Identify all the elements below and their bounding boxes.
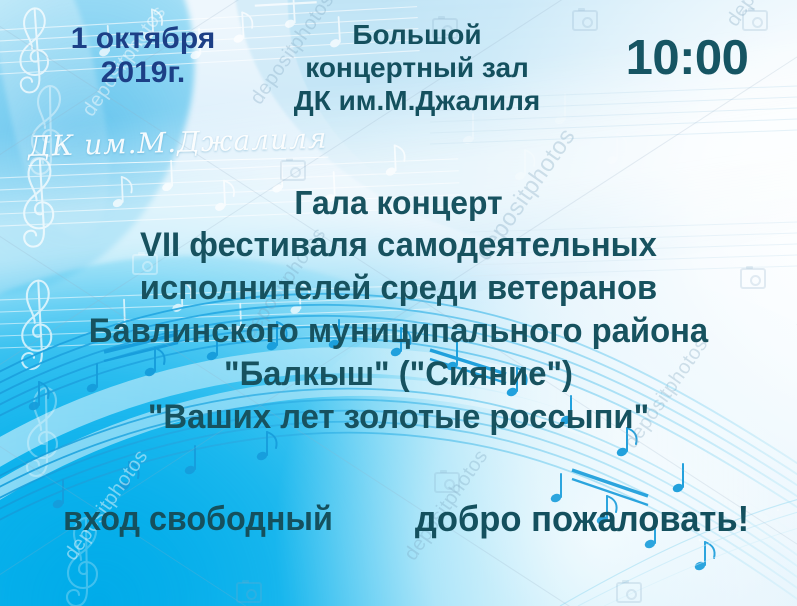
- event-title-line-1: Гала концерт: [14, 186, 783, 219]
- event-main-title: Гала концерт VII фестиваля самодеятельны…: [0, 186, 797, 443]
- event-title-line-5: "Балкыш" ("Сияние"): [14, 357, 783, 391]
- event-date: 1 октября 2019г.: [28, 22, 258, 89]
- event-date-line-1: 1 октября: [71, 22, 216, 55]
- event-title-line-2: VII фестиваля самодеятельных: [14, 228, 783, 262]
- event-venue-line-2: концертный зал: [262, 51, 572, 84]
- event-venue-line-1: Большой: [262, 18, 572, 51]
- free-entry-note: вход свободный: [37, 500, 360, 539]
- event-title-line-3: исполнителей среди ветеранов: [14, 271, 783, 305]
- event-time: 10:00: [592, 30, 782, 86]
- event-title-line-4: Бавлинского муниципального района: [14, 314, 783, 348]
- welcome-note: добро пожаловать!: [384, 498, 780, 540]
- event-venue: Большой концертный зал ДК им.М.Джалиля: [262, 18, 572, 117]
- event-poster: depositphotos depositphotos depositphoto…: [0, 0, 797, 606]
- event-venue-line-3: ДК им.М.Джалиля: [262, 84, 572, 117]
- event-date-line-2: 2019г.: [28, 56, 258, 90]
- event-title-line-6: "Ваших лет золотые россыпи": [14, 400, 783, 434]
